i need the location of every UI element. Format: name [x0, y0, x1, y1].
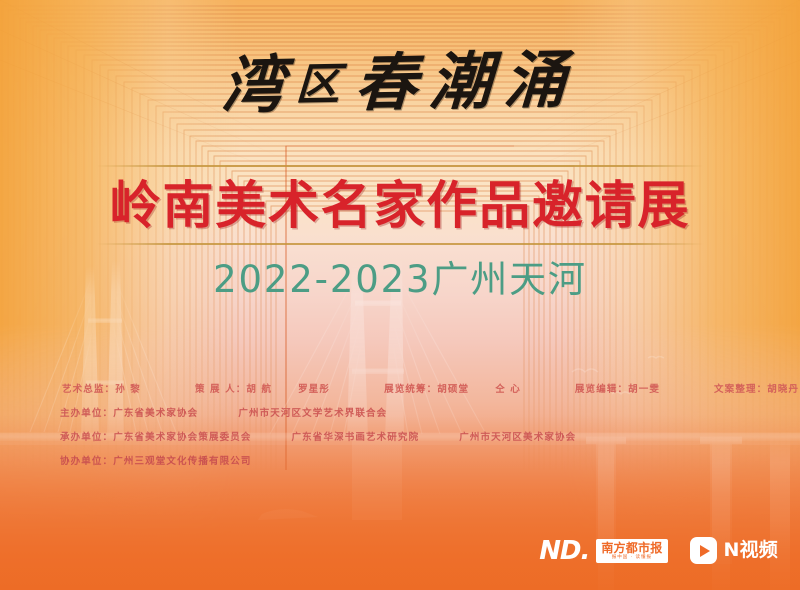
credit-curator-value-2: 罗星彤: [298, 382, 330, 397]
nandu-name-box: 南方都市报 报中国 · 读懂报: [596, 539, 667, 563]
calligraphy-title: 湾区春潮涌: [0, 45, 800, 121]
page-title: 岭南美术名家作品邀请展: [0, 176, 800, 236]
credit-coordinator-value-1: 胡硕堂: [437, 382, 469, 397]
supporter-value: 广州三观堂文化传播有限公司: [113, 454, 251, 469]
nvideo-label: N视频: [724, 541, 778, 560]
exhibition-poster: 湾区春潮涌 岭南美术名家作品邀请展 2022-2023广州天河 艺术总监： 孙 …: [0, 0, 800, 590]
credit-copywriter-label: 文案整理：: [714, 382, 767, 397]
co-organizer-label: 承办单位：: [60, 430, 113, 445]
credit-editor-label: 展览编辑：: [575, 382, 628, 397]
supporter-label: 协办单位：: [60, 454, 113, 469]
calligraphy-char-2: 区: [295, 59, 357, 111]
credits-block: 艺术总监： 孙 黎 策 展 人： 胡 航 罗星彤 展览统筹： 胡硕堂 仝 心 展…: [0, 377, 800, 473]
credits-row-supporters: 协办单位： 广州三观堂文化传播有限公司: [0, 449, 800, 473]
calligraphy-char-3: 春: [353, 45, 431, 119]
divider-rule-bottom: [96, 243, 704, 245]
credit-coordinator-value-2: 仝 心: [495, 382, 521, 397]
co-organizer-value-3: 广州市天河区美术家协会: [459, 430, 576, 445]
nandu-name-label: 南方都市报: [601, 542, 662, 555]
credit-art-director-value: 孙 黎: [115, 382, 141, 397]
subtitle: 2022-2023广州天河: [0, 258, 800, 302]
organizer-value-1: 广东省美术家协会: [113, 406, 198, 421]
credit-editor-value: 胡一雯: [628, 382, 660, 397]
calligraphy-char-4: 潮: [428, 44, 506, 118]
nandu-logo[interactable]: ND. 南方都市报 报中国 · 读懂报: [539, 538, 667, 564]
credit-art-director-label: 艺术总监：: [62, 382, 115, 397]
play-icon: [690, 537, 717, 564]
divider-rule-top: [96, 165, 704, 167]
credit-coordinator-label: 展览统筹：: [384, 382, 437, 397]
nd-wordmark-icon: ND.: [539, 538, 589, 564]
credit-curator-value-1: 胡 航: [246, 382, 272, 397]
co-organizer-value-1: 广东省美术家协会策展委员会: [113, 430, 251, 445]
nvideo-logo[interactable]: N视频: [690, 537, 778, 564]
co-organizer-value-2: 广东省华深书画艺术研究院: [292, 430, 420, 445]
organizer-value-2: 广州市天河区文学艺术界联合会: [238, 406, 387, 421]
calligraphy-char-1: 湾: [220, 48, 298, 122]
credits-row-staff: 艺术总监： 孙 黎 策 展 人： 胡 航 罗星彤 展览统筹： 胡硕堂 仝 心 展…: [0, 377, 800, 401]
credits-row-organizers: 主办单位： 广东省美术家协会 广州市天河区文学艺术界联合会: [0, 401, 800, 425]
credit-copywriter-value: 胡晓丹: [767, 382, 799, 397]
credit-curator-label: 策 展 人：: [195, 382, 246, 397]
organizer-label: 主办单位：: [60, 406, 113, 421]
sponsor-logos: ND. 南方都市报 报中国 · 读懂报 N视频: [539, 537, 778, 564]
calligraphy-char-5: 涌: [502, 43, 580, 117]
credits-row-co-organizers: 承办单位： 广东省美术家协会策展委员会 广东省华深书画艺术研究院 广州市天河区美…: [0, 425, 800, 449]
nandu-slogan-label: 报中国 · 读懂报: [612, 555, 652, 561]
